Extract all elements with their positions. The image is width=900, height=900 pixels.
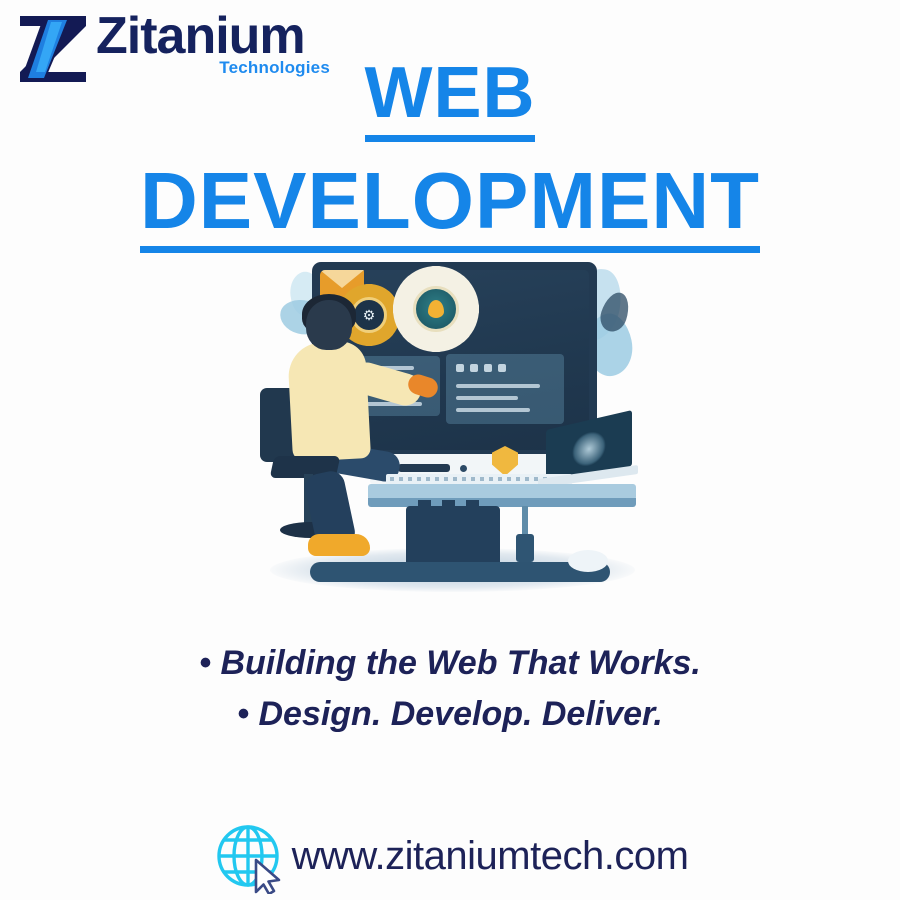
page-title: WEB DEVELOPMENT — [0, 55, 900, 253]
tagline-list: • Building the Web That Works. • Design.… — [0, 638, 900, 740]
desk-leg-foot — [516, 534, 534, 562]
headline-line-2: DEVELOPMENT — [0, 158, 900, 253]
headline-line-1-text: WEB — [365, 55, 536, 142]
globe-cursor-icon — [212, 818, 288, 894]
laptop-screen-glyph-icon — [572, 428, 606, 470]
website-url[interactable]: www.zitaniumtech.com — [292, 834, 689, 879]
gear-glyph-icon: ⚙ — [362, 308, 376, 322]
poster-canvas: Zitanium Technologies WEB DEVELOPMENT — [0, 0, 900, 900]
mousepad — [310, 562, 610, 582]
monitor-base-slot — [398, 464, 450, 472]
headline-line-2-text: DEVELOPMENT — [140, 158, 760, 253]
person-shoe — [308, 534, 370, 556]
screen-panel-right — [446, 354, 564, 424]
web-developer-illustration: ⚙ — [250, 248, 650, 613]
tagline-item: • Building the Web That Works. — [0, 638, 900, 689]
person-torso — [287, 340, 371, 462]
headline-line-1: WEB — [0, 55, 900, 142]
gear-large-center-dot — [428, 300, 444, 318]
computer-mouse — [568, 550, 608, 572]
person-head — [306, 300, 352, 350]
footer-website: www.zitaniumtech.com — [0, 818, 900, 894]
tagline-item: • Design. Develop. Deliver. — [0, 689, 900, 740]
monitor-base-dot — [460, 465, 467, 472]
